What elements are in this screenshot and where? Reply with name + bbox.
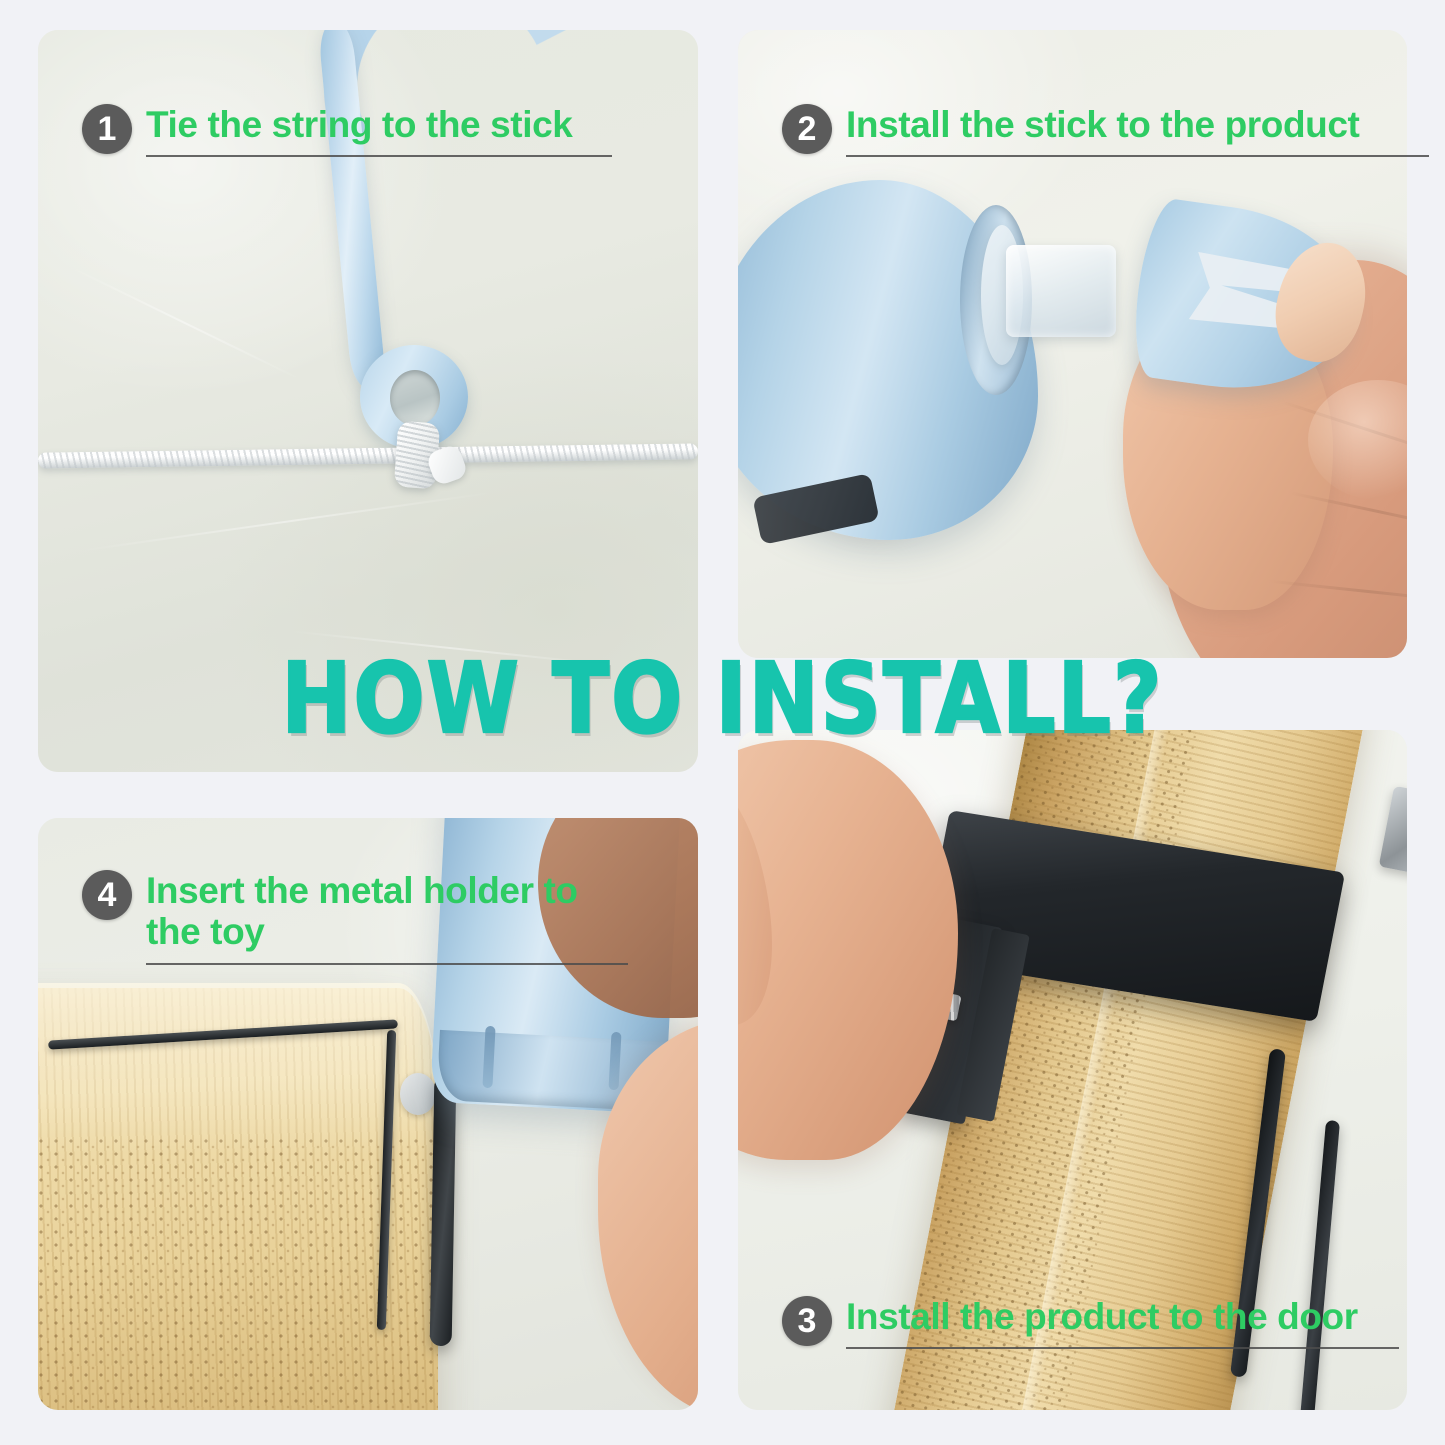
step-caption-text: Insert the metal holder to the toy [146, 870, 628, 953]
step-number-badge: 1 [82, 104, 132, 154]
step-caption-body: Install the stick to the product [846, 104, 1429, 157]
clear-connector-stem [1006, 245, 1116, 337]
step-caption-body: Insert the metal holder to the toy [146, 870, 628, 965]
bamboo-highlight [38, 983, 438, 1153]
stick-eyelet-hole [390, 370, 440, 426]
step-number-badge: 2 [782, 104, 832, 154]
step-number-badge: 3 [782, 1296, 832, 1346]
hero-title: HOW TO INSTALL? [0, 652, 1445, 749]
caption-underline [846, 155, 1429, 157]
step-4-caption: 4 Insert the metal holder to the toy [82, 870, 628, 965]
finger-crease [1268, 580, 1407, 604]
index-finger [738, 737, 802, 1047]
metal-holder-pin [430, 1076, 457, 1346]
step-caption-text: Install the stick to the product [846, 104, 1429, 145]
step-caption-body: Tie the string to the stick [146, 104, 612, 157]
step-2-caption: 2 Install the stick to the product [782, 104, 1429, 157]
step-caption-text: Install the product to the door [846, 1296, 1399, 1337]
step-3-caption: 3 Install the product to the door [782, 1296, 1399, 1349]
step-1-caption: 1 Tie the string to the stick [82, 104, 612, 157]
caption-underline [146, 963, 628, 965]
infographic-canvas: 1 Tie the string to the stick 2 Install … [0, 0, 1445, 1445]
step-caption-text: Tie the string to the stick [146, 104, 612, 145]
caption-underline [846, 1347, 1399, 1349]
step-caption-body: Install the product to the door [846, 1296, 1399, 1349]
step-number-badge: 4 [82, 870, 132, 920]
metal-holder-screw [400, 1073, 436, 1115]
caption-underline [146, 155, 612, 157]
